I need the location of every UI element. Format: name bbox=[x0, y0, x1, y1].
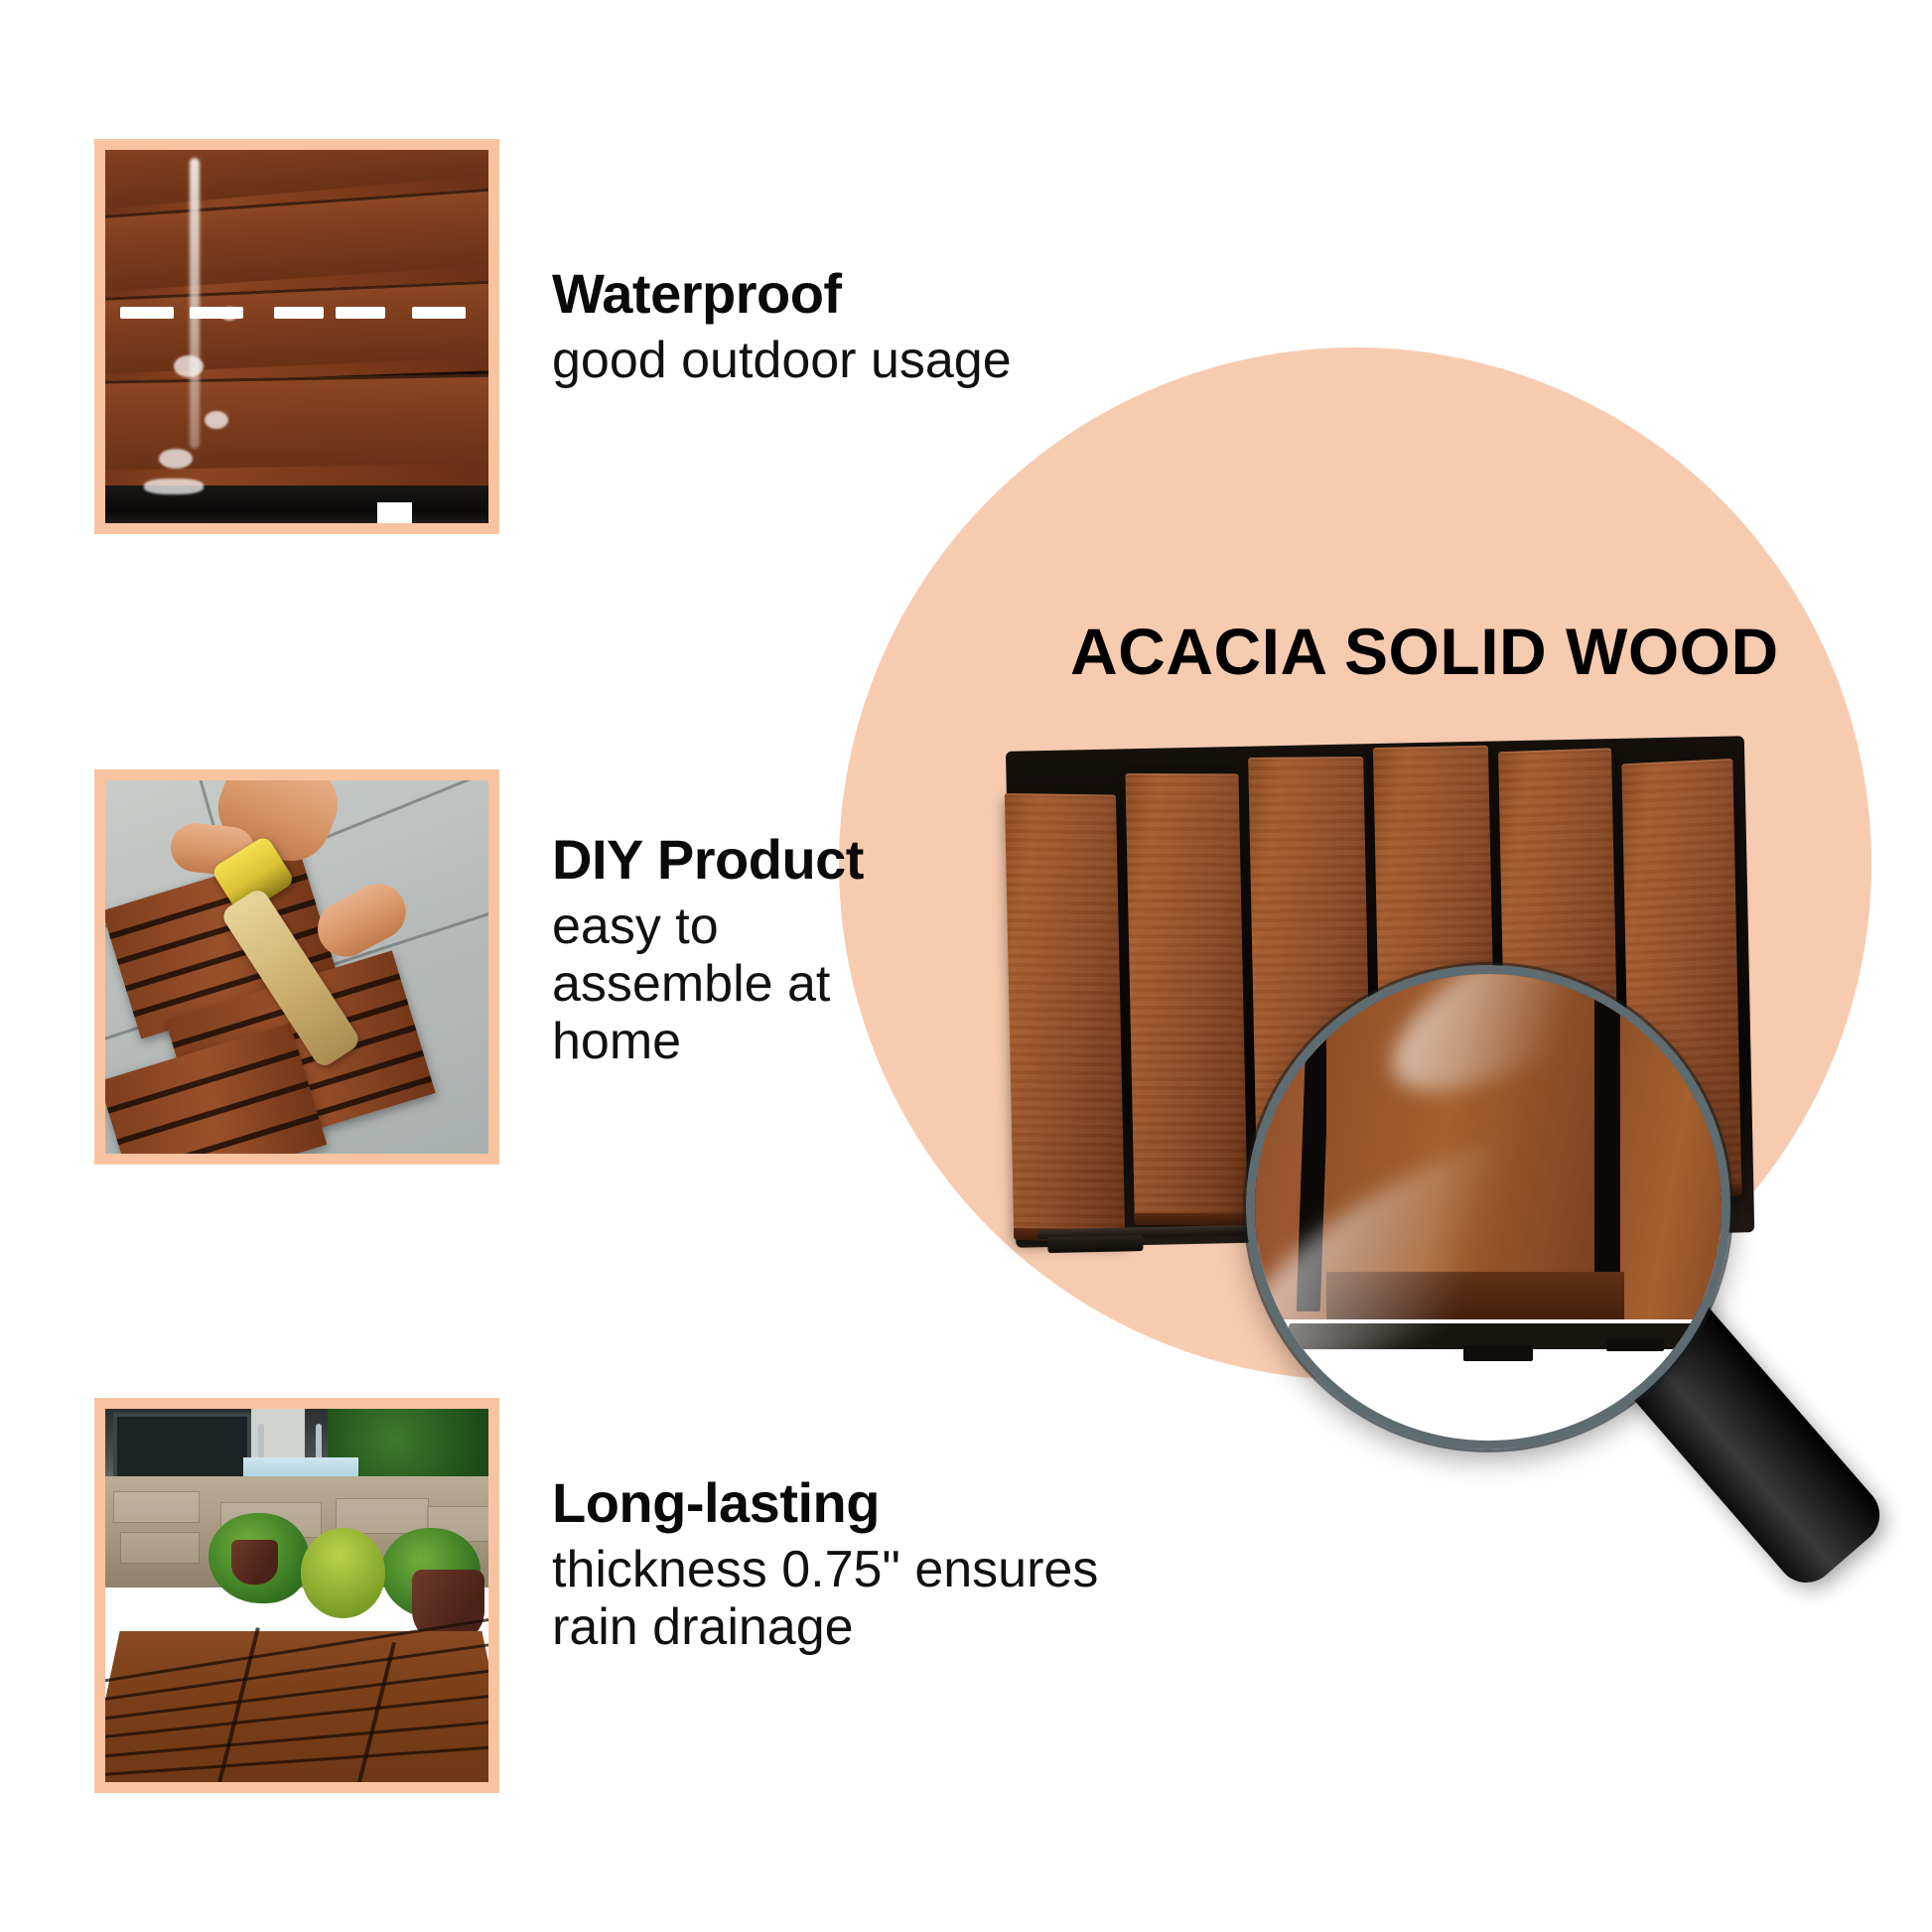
tile-foot bbox=[1047, 1235, 1143, 1253]
magnified-base-vent bbox=[1606, 1339, 1664, 1351]
magnifying-glass-icon bbox=[1246, 965, 1932, 1720]
slat-edge bbox=[1135, 1213, 1248, 1225]
magnified-base-vent bbox=[1463, 1345, 1533, 1361]
subtitle-line: home bbox=[552, 1013, 864, 1070]
feature-subtitle: easy to assemble at home bbox=[552, 897, 864, 1071]
water-droplet bbox=[220, 307, 238, 321]
magnifier-lens-ring bbox=[1246, 965, 1730, 1449]
tile-slat bbox=[1125, 773, 1248, 1225]
creeping-jenny-plant bbox=[301, 1528, 385, 1617]
base-vent-slot bbox=[412, 307, 466, 319]
feature-heading: Waterproof bbox=[552, 266, 1012, 322]
photo-content bbox=[105, 1409, 488, 1782]
feature-heading: DIY Product bbox=[552, 832, 864, 888]
tile-slat bbox=[1005, 793, 1125, 1241]
subtitle-line: thickness 0.75" ensures bbox=[552, 1541, 1098, 1598]
magnifier-lens bbox=[1255, 974, 1722, 1441]
wet-deck-tile-photo bbox=[94, 139, 499, 534]
stone-block bbox=[113, 1491, 200, 1523]
poolside-patio-photo bbox=[94, 1398, 499, 1793]
hero-title: ACACIA SOLID WOOD bbox=[1070, 614, 1779, 689]
base-vent-slot bbox=[336, 307, 385, 319]
feature-text-long-lasting: Long-lasting thickness 0.75" ensures rai… bbox=[552, 1475, 1098, 1656]
subtitle-line: good outdoor usage bbox=[552, 332, 1012, 389]
subtitle-line: rain drainage bbox=[552, 1598, 1098, 1656]
stone-block bbox=[120, 1532, 199, 1564]
water-splash bbox=[144, 479, 204, 494]
base-vent-slot bbox=[120, 307, 174, 319]
infographic-canvas: ACACIA SOLID WOOD bbox=[0, 0, 1932, 1932]
water-droplet bbox=[159, 449, 193, 469]
clay-pot bbox=[231, 1540, 277, 1585]
wood-grain bbox=[1125, 773, 1248, 1225]
water-droplet bbox=[174, 355, 204, 377]
feature-subtitle: good outdoor usage bbox=[552, 332, 1012, 389]
photo-content bbox=[105, 780, 488, 1154]
feature-text-diy: DIY Product easy to assemble at home bbox=[552, 832, 864, 1071]
window-frame bbox=[113, 1413, 251, 1480]
wood-grain bbox=[1005, 793, 1125, 1241]
feature-subtitle: thickness 0.75" ensures rain drainage bbox=[552, 1541, 1098, 1656]
subtitle-line: easy to bbox=[552, 897, 864, 955]
photo-content bbox=[105, 150, 488, 523]
diy-mallet-assembly-photo bbox=[94, 769, 499, 1165]
subtitle-line: assemble at bbox=[552, 955, 864, 1013]
magnified-slat bbox=[1620, 974, 1722, 1331]
feature-text-waterproof: Waterproof good outdoor usage bbox=[552, 266, 1012, 389]
feature-heading: Long-lasting bbox=[552, 1475, 1098, 1531]
water-stream bbox=[190, 158, 200, 449]
base-vent-slot bbox=[274, 307, 324, 319]
base-notch bbox=[377, 502, 412, 523]
